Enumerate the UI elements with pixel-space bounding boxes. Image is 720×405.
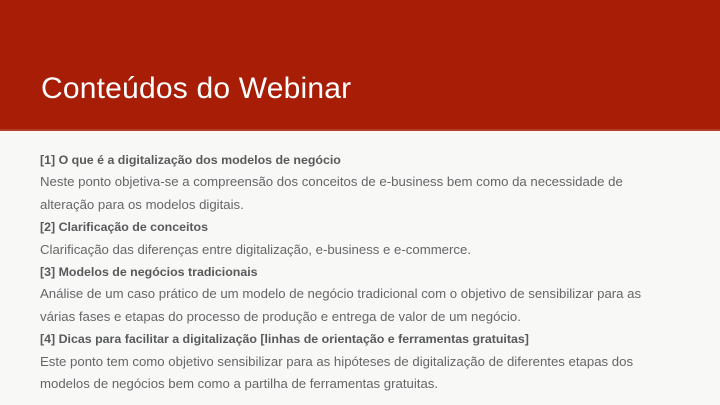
content-item-heading: [3] Modelos de negócios tradicionais [40, 261, 674, 283]
content-item-body: Análise de um caso prático de um modelo … [40, 283, 674, 328]
content-item-body: Neste ponto objetiva-se a compreensão do… [40, 171, 674, 216]
slide-content-list: [1] O que é a digitalização dos modelos … [40, 149, 674, 395]
content-item-1: [1] O que é a digitalização dos modelos … [40, 149, 674, 216]
content-item-heading: [4] Dicas para facilitar a digitalização… [40, 328, 674, 350]
presentation-slide: Conteúdos do Webinar [1] O que é a digit… [0, 0, 720, 405]
content-item-4: [4] Dicas para facilitar a digitalização… [40, 328, 674, 395]
page-title: Conteúdos do Webinar [41, 70, 351, 108]
title-banner: Conteúdos do Webinar [0, 0, 720, 131]
content-item-body: Clarificação das diferenças entre digita… [40, 239, 674, 261]
content-item-heading: [2] Clarificação de conceitos [40, 216, 674, 238]
content-item-body: Este ponto tem como objetivo sensibiliza… [40, 351, 674, 396]
content-item-2: [2] Clarificação de conceitos Clarificaç… [40, 216, 674, 261]
content-item-3: [3] Modelos de negócios tradicionais Aná… [40, 261, 674, 328]
content-item-heading: [1] O que é a digitalização dos modelos … [40, 149, 674, 171]
